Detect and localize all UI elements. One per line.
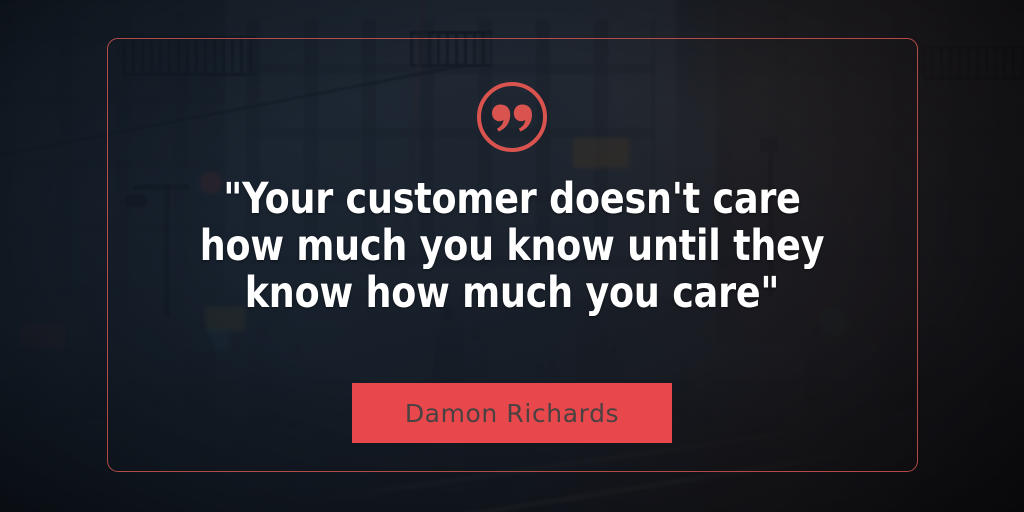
card-content: "Your customer doesn't care how much you… [0, 0, 1024, 512]
quote-line: how much you know until they [182, 223, 842, 270]
quote-line: know how much you care" [182, 270, 842, 317]
attribution-badge: Damon Richards [352, 383, 672, 443]
quote-open-icon [477, 82, 547, 152]
quote-card: "Your customer doesn't care how much you… [0, 0, 1024, 512]
quote-line: "Your customer doesn't care [182, 176, 842, 223]
quote-text: "Your customer doesn't care how much you… [182, 176, 842, 317]
author-name: Damon Richards [405, 399, 619, 428]
